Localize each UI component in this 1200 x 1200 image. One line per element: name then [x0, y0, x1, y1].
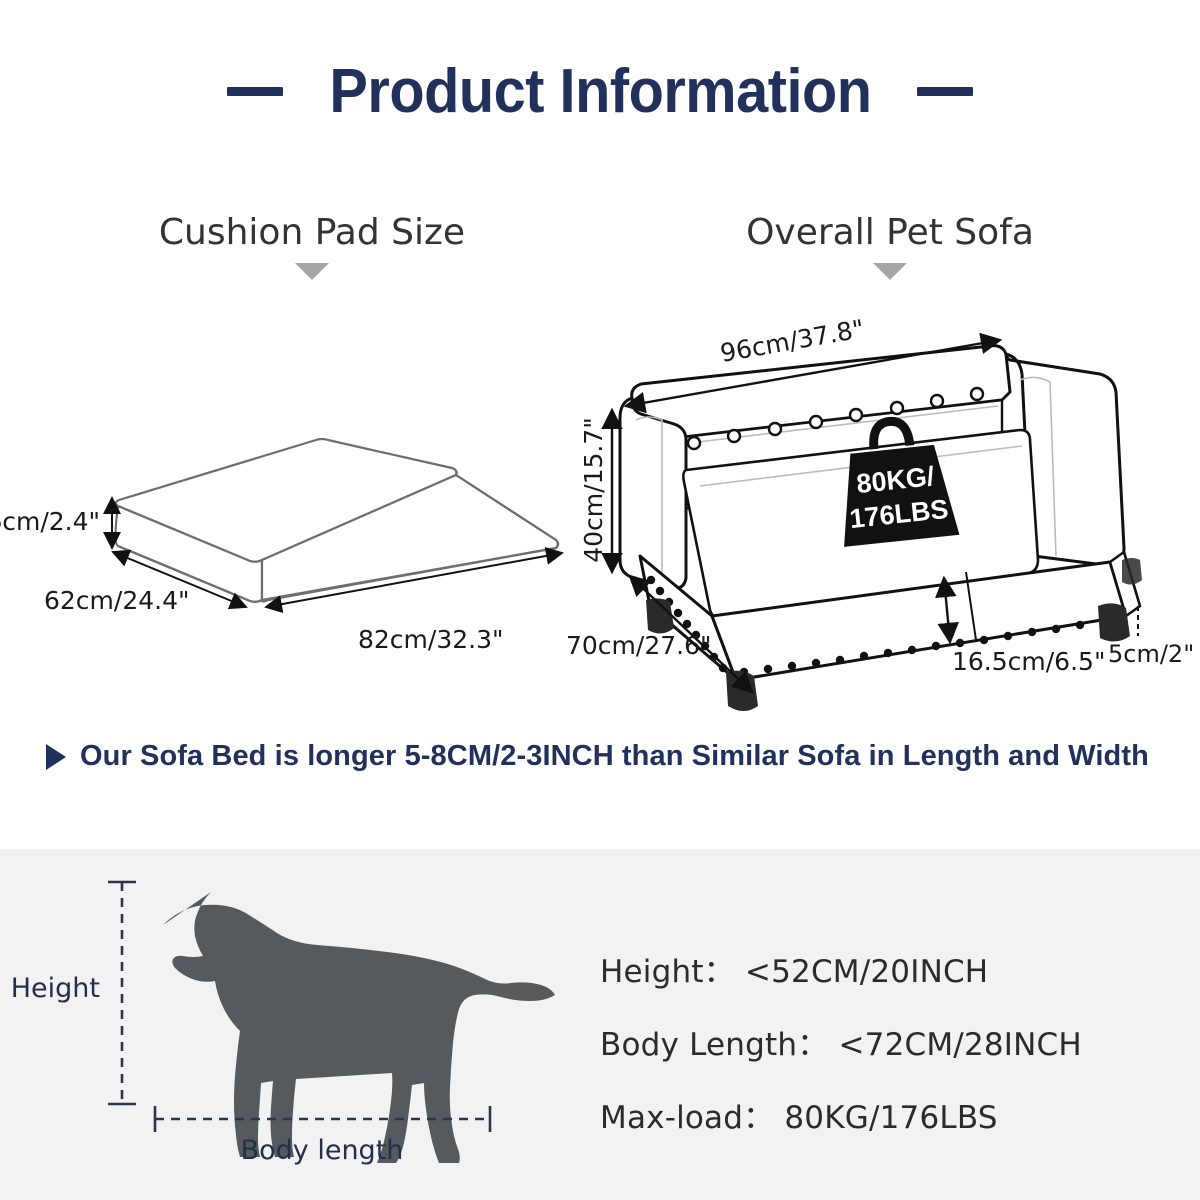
play-triangle-icon — [46, 744, 66, 770]
weight-tag-line2: 176LBS — [848, 494, 950, 534]
page-title: Product Information — [0, 56, 1200, 127]
spec-height: Height： <52CM/20INCH — [600, 946, 1160, 991]
cushion-pad-drawing — [116, 439, 559, 602]
sofa-dim-leg-height: 5cm/2" — [1108, 606, 1194, 668]
cushion-thickness-label: 6cm/2.4" — [0, 507, 100, 536]
dog-height-label: Height — [11, 973, 100, 1004]
cushion-width-label: 82cm/32.3" — [358, 625, 504, 654]
weight-tag-line1: 80KG/ — [855, 461, 936, 499]
highlight-banner: Our Sofa Bed is longer 5-8CM/2-3INCH tha… — [46, 740, 1166, 773]
weight-tag-icon: 80KG/ 176LBS — [832, 415, 960, 546]
spec-max-load: Max-load： 80KG/176LBS — [600, 1092, 1160, 1137]
sofa-length-label: 96cm/37.8" — [718, 314, 866, 368]
title-dash-right — [917, 87, 973, 96]
cushion-dim-thickness: 6cm/2.4" — [0, 498, 112, 548]
title-text: Product Information — [329, 56, 871, 127]
dog-length-label: Body length — [241, 1135, 404, 1166]
section-label-sofa: Overall Pet Sofa — [680, 212, 1100, 253]
down-arrow-icon — [295, 263, 329, 280]
sofa-dim-height: 40cm/15.7" — [579, 410, 612, 572]
cushion-depth-label: 62cm/24.4" — [44, 586, 190, 615]
cushion-dim-depth: 62cm/24.4" — [44, 552, 246, 615]
sofa-leg-height-label: 5cm/2" — [1108, 640, 1194, 668]
spec-body-length: Body Length： <72CM/28INCH — [600, 1019, 1160, 1064]
dog-height-dimension: Height — [11, 882, 136, 1104]
dog-silhouette — [163, 892, 555, 1163]
section-header-sofa: Overall Pet Sofa — [680, 212, 1100, 280]
sofa-dim-length: 96cm/37.8" — [626, 314, 1000, 406]
sofa-height-label: 40cm/15.7" — [579, 417, 608, 563]
sofa-seat-height-label: 16.5cm/6.5" — [952, 647, 1105, 676]
product-diagrams: 6cm/2.4" 62cm/24.4" 82cm/32.3" — [0, 0, 1200, 850]
pet-sofa-drawing — [620, 346, 1142, 711]
section-header-cushion: Cushion Pad Size — [102, 212, 522, 280]
sofa-dim-seat-height: 16.5cm/6.5" — [944, 578, 1105, 676]
title-dash-left — [227, 87, 283, 96]
section-label-cushion: Cushion Pad Size — [102, 212, 522, 253]
sofa-depth-label: 70cm/27.6" — [566, 631, 712, 660]
cushion-dim-width: 82cm/32.3" — [266, 553, 562, 654]
tufting-buttons — [688, 388, 983, 449]
nailhead-studs-left — [647, 576, 727, 672]
down-arrow-icon — [873, 263, 907, 280]
sofa-dim-depth: 70cm/27.6" — [566, 576, 752, 692]
banner-text: Our Sofa Bed is longer 5-8CM/2-3INCH tha… — [80, 740, 1149, 773]
dog-size-diagram: Height Body length — [0, 849, 580, 1200]
nailhead-studs-front — [740, 617, 1108, 676]
sofa-feet — [646, 558, 1142, 711]
spec-list: Height： <52CM/20INCH Body Length： <72CM/… — [600, 946, 1160, 1137]
